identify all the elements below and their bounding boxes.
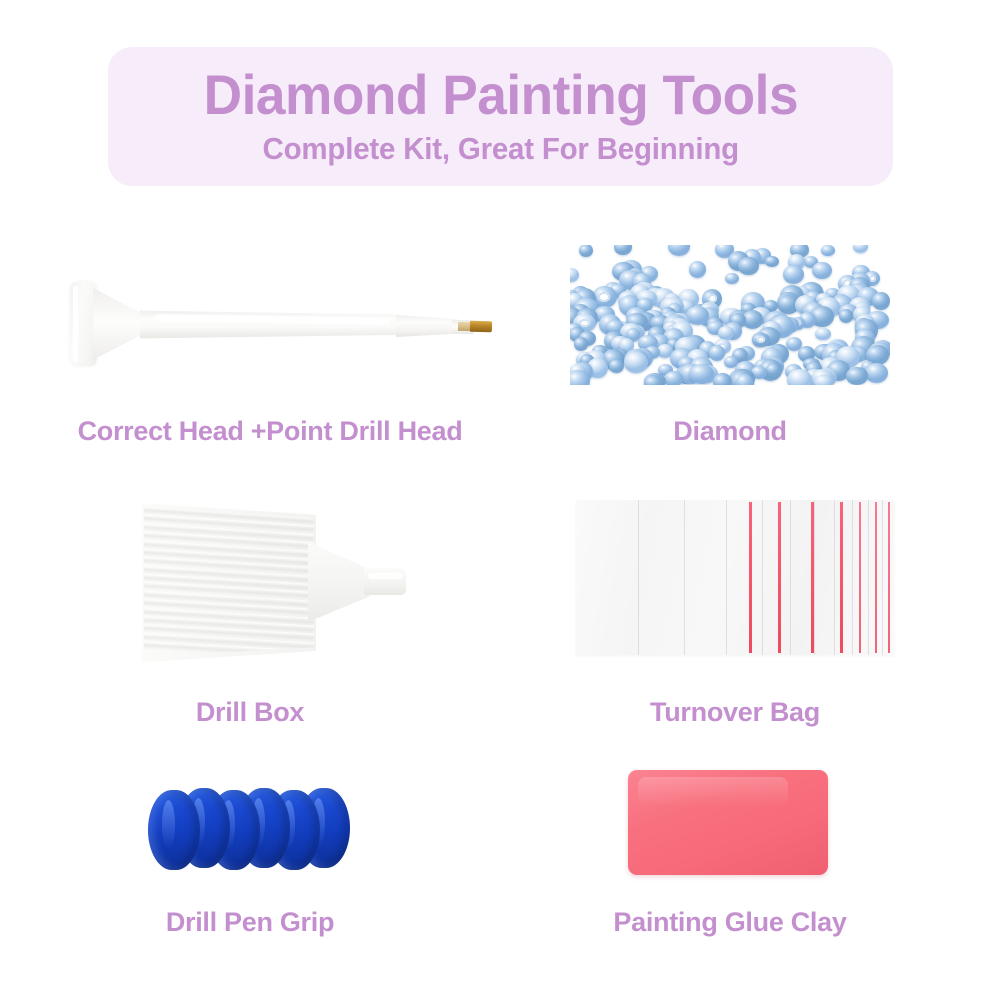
pen-flare: [93, 288, 143, 360]
turnover-bag-fold: [834, 500, 835, 655]
turnover-bag-seal-stripe: [859, 502, 861, 653]
pen-correct-head-icon: [70, 282, 97, 366]
diamond-bead: [766, 363, 782, 377]
page-title: Diamond Painting Tools: [203, 66, 797, 125]
turnover-bag-fold: [790, 500, 791, 655]
diamond-bead: [624, 352, 648, 373]
grip-foam-ring: [148, 790, 200, 870]
turnover-bag-seal-stripe: [749, 502, 752, 653]
diamond-bead: [752, 333, 769, 347]
grip-ring-highlight: [162, 800, 176, 850]
turnover-bag-seal-stripe: [888, 502, 890, 653]
diamond-bead: [718, 326, 733, 340]
label-drill-box: Drill Box: [30, 697, 470, 728]
product-image-drill-pen: [60, 270, 490, 380]
label-drill-pen-grip: Drill Pen Grip: [30, 907, 470, 938]
turnover-bag-seal-stripe: [875, 502, 877, 653]
turnover-bag-fold: [814, 500, 815, 655]
diamond-bead: [812, 262, 832, 280]
product-image-drill-pen-grip: [148, 788, 358, 874]
diamond-bead: [574, 337, 589, 351]
diamond-bead: [725, 273, 739, 285]
turnover-bag-body: [576, 500, 894, 655]
diamond-bead: [609, 359, 624, 373]
drill-box-handle-highlight: [368, 573, 402, 579]
turnover-bag-fold: [852, 500, 853, 655]
glue-clay-highlight: [638, 777, 788, 807]
product-infographic: Diamond Painting Tools Complete Kit, Gre…: [0, 0, 1000, 1000]
diamond-bead: [865, 363, 888, 383]
turnover-bag-seal-stripe: [811, 502, 814, 653]
diamond-bead: [570, 268, 579, 282]
turnover-bag-fold: [726, 500, 727, 655]
turnover-bag-fold: [882, 500, 883, 655]
diamond-bead: [689, 261, 707, 278]
glue-clay-block: [628, 770, 828, 875]
drill-box-grooves: [142, 506, 314, 658]
pen-collar: [396, 314, 458, 338]
diamond-bead: [614, 245, 631, 255]
turnover-bag-fold: [638, 500, 639, 655]
product-image-diamond: [570, 245, 890, 385]
pen-point-drill-tip-icon: [470, 321, 492, 333]
diamond-bead: [846, 367, 869, 385]
turnover-bag-seal-stripe: [778, 502, 781, 653]
label-drill-pen: Correct Head +Point Drill Head: [0, 416, 540, 447]
header-banner: Diamond Painting Tools Complete Kit, Gre…: [108, 47, 893, 186]
diamond-bead: [839, 309, 853, 323]
diamond-bead: [783, 265, 805, 284]
product-image-glue-clay: [628, 770, 828, 875]
product-image-drill-box: [132, 492, 412, 672]
diamond-bead: [579, 245, 592, 257]
diamond-bead: [689, 364, 714, 384]
diamond-bead: [668, 245, 690, 256]
label-glue-clay: Painting Glue Clay: [560, 907, 900, 938]
diamond-bead: [815, 328, 831, 341]
diamond-bead: [738, 257, 759, 275]
diamond-bead: [765, 256, 779, 267]
diamond-bead: [853, 245, 868, 253]
page-subtitle: Complete Kit, Great For Beginning: [262, 131, 738, 167]
diamond-bead: [872, 292, 890, 310]
diamond-bead: [709, 345, 725, 361]
drill-box-neck: [308, 542, 370, 622]
diamond-bead: [644, 375, 663, 385]
diamond-bead: [821, 245, 834, 256]
turnover-bag-fold: [868, 500, 869, 655]
product-image-turnover-bag: [576, 500, 894, 655]
turnover-bag-fold: [762, 500, 763, 655]
turnover-bag-seal-stripe: [840, 502, 843, 653]
label-turnover-bag: Turnover Bag: [565, 697, 905, 728]
diamond-bead: [713, 373, 731, 385]
label-diamond: Diamond: [560, 416, 900, 447]
diamond-bead: [664, 371, 683, 385]
turnover-bag-fold: [684, 500, 685, 655]
